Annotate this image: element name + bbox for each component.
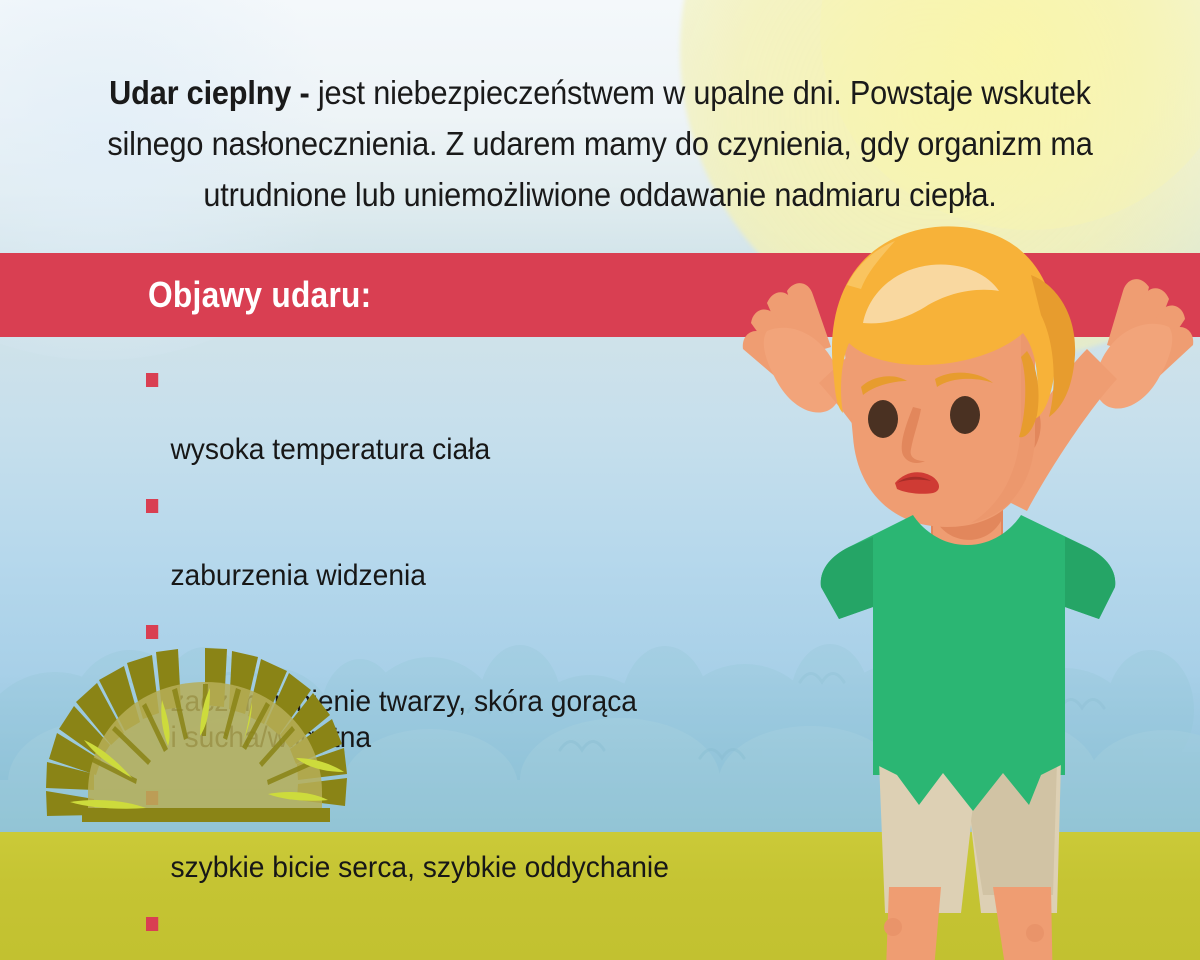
list-item-label: wysoka temperatura ciała	[170, 433, 490, 466]
intro-paragraph: Udar cieplny - jest niebezpieczeństwem w…	[42, 67, 1158, 220]
bullet-square-icon	[146, 917, 158, 931]
bullet-square-icon	[146, 625, 158, 639]
eye-right	[950, 396, 980, 434]
infographic-poster: Udar cieplny - jest niebezpieczeństwem w…	[0, 0, 1200, 960]
list-item-label: zaburzenia widzenia	[170, 559, 426, 592]
shorts	[873, 607, 1065, 913]
list-item: wysoka temperatura ciała	[146, 360, 804, 468]
intro-lead: Udar cieplny -	[109, 74, 318, 111]
bullet-square-icon	[146, 373, 158, 387]
list-item-label: szybkie bicie serca, szybkie oddychanie	[170, 851, 668, 884]
bullet-square-icon	[146, 499, 158, 513]
eye-left	[868, 400, 898, 438]
list-item: utrata przytomności	[146, 904, 804, 960]
symptoms-banner-title: Objawy udaru:	[148, 269, 371, 321]
list-item: zaburzenia widzenia	[146, 486, 804, 594]
withered-bush-icon	[40, 640, 370, 840]
boy-character-illustration	[735, 215, 1200, 935]
